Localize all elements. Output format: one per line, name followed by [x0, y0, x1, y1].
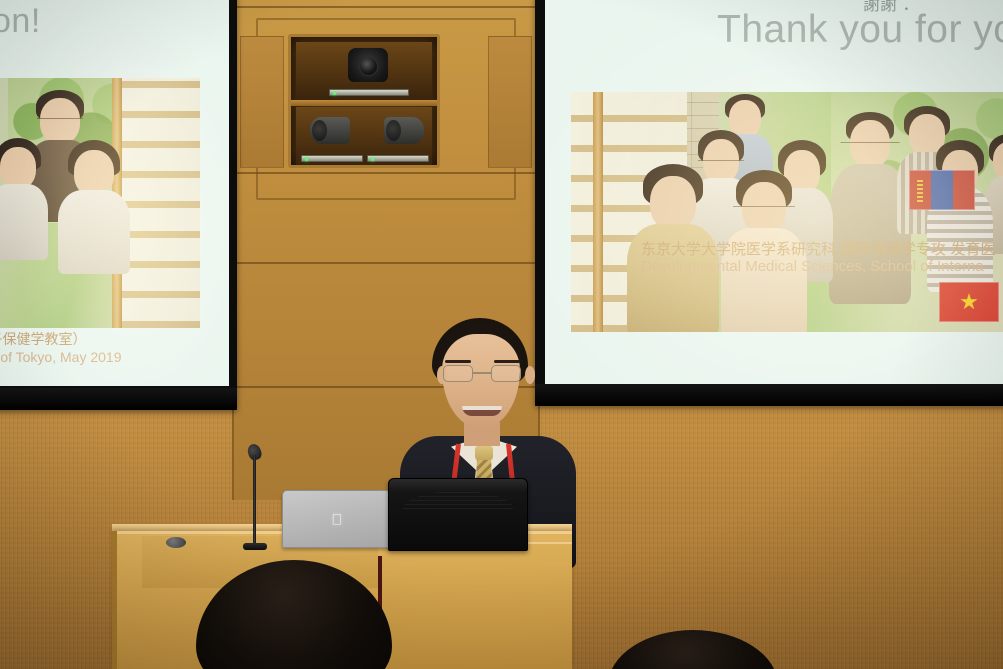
led-indicator [371, 158, 374, 161]
monitor-vents [403, 491, 513, 509]
video-camera-icon [348, 48, 388, 82]
person-head [742, 182, 786, 234]
person-glasses [37, 118, 83, 119]
column-seam [234, 6, 538, 8]
table-microphone-icon [166, 537, 186, 548]
person-glasses [840, 142, 899, 143]
person-head [650, 176, 696, 230]
led-indicator [305, 158, 308, 161]
av-rail-bottom-left [301, 155, 363, 162]
led-indicator [333, 92, 336, 95]
person-body [58, 190, 130, 274]
podium-riser-panel [382, 542, 572, 669]
presenter-eyebrow-right [494, 360, 520, 363]
flag-overlay-vietnam: ★ [939, 282, 999, 322]
group-photo-right: ★ [571, 92, 1003, 332]
photo-person [58, 140, 130, 270]
av-rail-top [329, 89, 409, 96]
person-head [0, 147, 36, 189]
left-screen-surface: on! [0, 0, 229, 386]
podium-left-edge [112, 531, 117, 669]
speaker-left-icon [310, 117, 350, 144]
glasses-icon [442, 365, 522, 383]
person-head [850, 120, 890, 168]
group-photo-left [0, 78, 200, 328]
av-equipment-cabinet [288, 34, 440, 168]
av-shelf-divider [291, 100, 437, 106]
photo-wood-lattice [122, 78, 200, 328]
lecture-hall-scene: on! [0, 0, 1003, 669]
presenter-smile [462, 406, 502, 416]
confidence-monitor[interactable] [388, 478, 528, 551]
presenter-ear-right [525, 366, 535, 384]
left-caption-cjk: 部 母子保健学教室） [0, 332, 121, 349]
presenter-eyebrow-left [445, 360, 471, 363]
photo-person [0, 138, 48, 258]
column-seam [234, 262, 538, 264]
person-glasses [698, 160, 744, 161]
column-side-panel-right [488, 36, 532, 168]
left-caption-roman: versity of Tokyo, May 2019 [0, 349, 121, 366]
left-slide-caption: 部 母子保健学教室） versity of Tokyo, May 2019 [0, 332, 121, 366]
apple-logo-icon:  [331, 513, 342, 528]
av-rail-bottom-right [367, 155, 429, 162]
macbook-laptop[interactable]:  [282, 490, 392, 548]
person-body [0, 184, 48, 260]
microphone-base [243, 543, 267, 550]
right-caption-cjk: 东京大学大学院医学系研究科 国际保健学专攻 发育医 [641, 240, 996, 258]
glasses-lens-right [491, 365, 521, 382]
left-projection-screen: on! [0, 0, 237, 410]
speaker-right-icon [384, 117, 424, 144]
presenter-tie-knot [475, 446, 493, 460]
vietnam-star-icon: ★ [959, 291, 979, 313]
glasses-bridge [473, 372, 491, 374]
flag-overlay-mongolia [909, 170, 975, 210]
right-slide-caption: 东京大学大学院医学系研究科 国际保健学专攻 发育医 Developmental … [641, 240, 996, 277]
left-slide-title: on! [0, 2, 41, 41]
right-caption-roman: Developmental Medical Sciences, School o… [641, 258, 996, 276]
column-side-panel-left [240, 36, 284, 168]
microphone-gooseneck [253, 455, 256, 547]
right-screen-surface: 謝謝 ． Thank you for you [545, 0, 1003, 384]
screen-weight-bar [535, 384, 1003, 406]
person-glasses [733, 206, 795, 207]
right-projection-screen: 謝謝 ． Thank you for you [535, 0, 1003, 406]
screen-weight-bar [0, 388, 237, 410]
glasses-lens-left [443, 365, 473, 382]
photo-wood-post [593, 92, 603, 332]
right-slide-title: Thank you for you [717, 8, 1003, 52]
